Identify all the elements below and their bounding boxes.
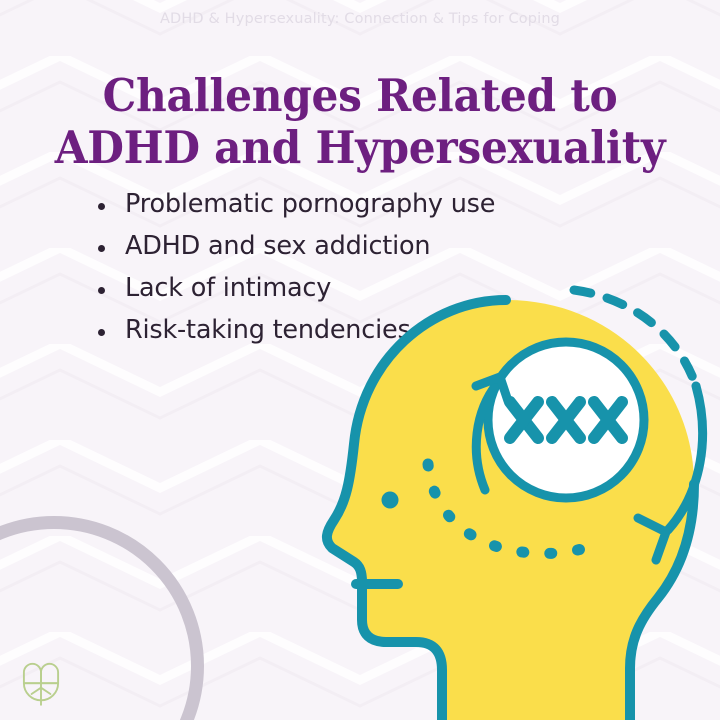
top-banner-title: ADHD & Hypersexuality: Connection & Tips…	[0, 11, 720, 27]
page-title: Challenges Related to ADHD and Hypersexu…	[22, 70, 699, 174]
list-item-label: Problematic pornography use	[125, 189, 495, 219]
bullet-dot-icon	[98, 287, 105, 294]
bullet-dot-icon	[98, 203, 105, 210]
page-title-line-1: Challenges Related to	[103, 69, 618, 122]
page-title-line-2: ADHD and Hypersexuality	[22, 122, 699, 174]
list-item-label: ADHD and sex addiction	[125, 231, 430, 261]
bullet-dot-icon	[98, 329, 105, 336]
lotus-flower-logo-icon	[14, 658, 68, 712]
list-item: Problematic pornography use	[92, 192, 562, 218]
bullet-dot-icon	[98, 245, 105, 252]
head-illustration	[310, 268, 720, 720]
list-item-label: Lack of intimacy	[125, 273, 331, 303]
list-item: ADHD and sex addiction	[92, 234, 562, 260]
infographic-canvas: ADHD & Hypersexuality: Connection & Tips…	[0, 0, 720, 720]
eye-dot-icon	[382, 492, 399, 509]
